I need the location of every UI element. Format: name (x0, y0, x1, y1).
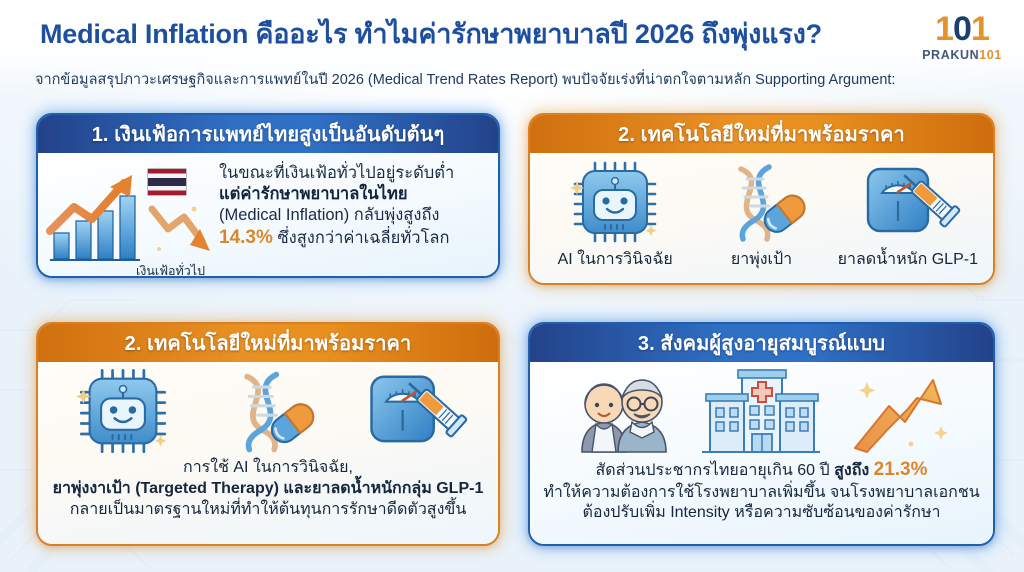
rising-arrow-icon (845, 364, 955, 454)
logo-wordmark-main: PRAKUN (922, 48, 979, 62)
card-new-technology-icons[interactable]: 2. เทคโนโลยีใหม่ที่มาพร้อมราคา (528, 113, 995, 285)
ai-chip-robot-icon (75, 366, 171, 456)
ai-chip-robot-icon (569, 159, 661, 245)
icon-cell-elderly-couple (555, 364, 692, 454)
card-2-header: 2. เทคโนโลยีใหม่ที่มาพร้อมราคา (530, 115, 993, 153)
logo-wordmark: PRAKUN101 (916, 48, 1008, 62)
general-inflation-label: เงินเฟ้อทั่วไป (136, 261, 205, 278)
icon-caption-ai: AI ในการวินิจฉัย (543, 247, 688, 272)
elderly-couple-icon (564, 364, 682, 454)
card-2-body: AI ในการวินิจฉัย (530, 153, 993, 283)
card-4-line-2: ทำให้ความต้องการใช้โรงพยาบาลเพิ่มขึ้น จน… (542, 483, 981, 504)
card-1-line-1: ในขณะที่เงินเฟ้อทั่วไปอยู่ระดับต่ำ (219, 163, 488, 184)
logo-digit-one-right: 1 (971, 10, 989, 48)
card-4-line-1-bold: สูงถึง (834, 462, 874, 479)
icon-caption-targeted-drug: ยาพุ่งเป้า (689, 247, 834, 272)
icon-cell-targeted-drug[interactable]: ยาพุ่งเป้า (689, 159, 834, 272)
card-1-text: ในขณะที่เงินเฟ้อทั่วไปอยู่ระดับต่ำ แต่ค่… (219, 157, 488, 272)
card-4-header: 3. สังคมผู้สูงอายุสมบูรณ์แบบ (530, 324, 993, 362)
card-1-line-2: แต่ค่ารักษาพยาบาลในไทย (219, 185, 408, 203)
scale-syringe-icon (357, 366, 469, 456)
card-aging-society[interactable]: 3. สังคมผู้สูงอายุสมบูรณ์แบบ (528, 322, 995, 546)
card-4-body: สัดส่วนประชากรไทยอายุเกิน 60 ปี สูงถึง 2… (530, 362, 993, 544)
card-3-line-1: การใช้ AI ในการวินิจฉัย, (50, 458, 486, 479)
card-1-line-3: (Medical Inflation) กลับพุ่งสูงถึง (219, 205, 488, 226)
card-new-technology-detail[interactable]: 2. เทคโนโลยีใหม่ที่มาพร้อมราคา (36, 322, 500, 546)
page-title: Medical Inflation คืออะไร ทำไมค่ารักษาพย… (40, 20, 920, 50)
infographic-canvas: Medical Inflation คืออะไร ทำไมค่ารักษาพย… (0, 0, 1024, 572)
brand-logo[interactable]: 101 PRAKUN101 (916, 12, 1008, 62)
card-4-line-3: ต้องปรับเพิ่ม Intensity หรือความซับซ้อนข… (542, 503, 981, 524)
card-1-stat: 14.3% (219, 227, 273, 248)
icon-cell-growth-arrow (831, 364, 968, 454)
hospital-building-icon (702, 364, 820, 454)
logo-wordmark-accent: 101 (979, 48, 1002, 62)
scale-syringe-icon (854, 159, 962, 245)
growth-chart-icon (44, 157, 219, 278)
card-3-line-2: ยาพุ่งงาเป้า (Targeted Therapy) และยาลดน… (53, 480, 484, 497)
logo-digit-zero: 0 (953, 10, 971, 48)
card-3-header: 2. เทคโนโลยีใหม่ที่มาพร้อมราคา (38, 324, 498, 362)
icon-caption-glp1: ยาลดน้ำหนัก GLP-1 (835, 247, 980, 272)
page-subtitle: จากข้อมูลสรุปภาวะเศรษฐกิจและการแพทย์ในปี… (35, 72, 995, 89)
card-4-stat: 21.3% (874, 459, 928, 480)
card-4-text: สัดส่วนประชากรไทยอายุเกิน 60 ปี สูงถึง 2… (530, 458, 993, 524)
dna-pill-icon (216, 366, 320, 456)
card-1-header: 1. เงินเฟ้อการแพทย์ไทยสูงเป็นอันดับต้นๆ (38, 115, 498, 153)
icon-cell-ai-2[interactable] (51, 366, 195, 456)
icon-cell-glp1-2[interactable] (341, 366, 485, 456)
icon-cell-glp1[interactable]: ยาลดน้ำหนัก GLP-1 (835, 159, 980, 272)
logo-mark: 101 (916, 12, 1008, 46)
logo-digit-one-left: 1 (935, 10, 953, 48)
dna-pill-icon (711, 159, 811, 245)
icon-cell-hospital (693, 364, 830, 454)
icon-cell-ai[interactable]: AI ในการวินิจฉัย (543, 159, 688, 272)
icon-cell-targeted-drug-2[interactable] (196, 366, 340, 456)
card-3-line-3: กลายเป็นมาตรฐานใหม่ที่ทำให้ต้นทุนการรักษ… (50, 500, 486, 521)
thailand-flag-icon (148, 169, 186, 195)
card-4-line-1-prefix: สัดส่วนประชากรไทยอายุเกิน 60 ปี (595, 462, 834, 479)
card-1-body: เงินเฟ้อทั่วไป ในขณะที่เงินเฟ้อทั่วไปอยู… (38, 153, 498, 276)
card-3-body: การใช้ AI ในการวินิจฉัย, ยาพุ่งงาเป้า (T… (38, 362, 498, 544)
card-medical-inflation[interactable]: 1. เงินเฟ้อการแพทย์ไทยสูงเป็นอันดับต้นๆ (36, 113, 500, 278)
card-1-stat-suffix: ซึ่งสูงกว่าค่าเฉลี่ยทั่วโลก (273, 229, 450, 247)
card-1-illustration: เงินเฟ้อทั่วไป (44, 157, 219, 272)
card-3-text: การใช้ AI ในการวินิจฉัย, ยาพุ่งงาเป้า (T… (38, 458, 498, 520)
